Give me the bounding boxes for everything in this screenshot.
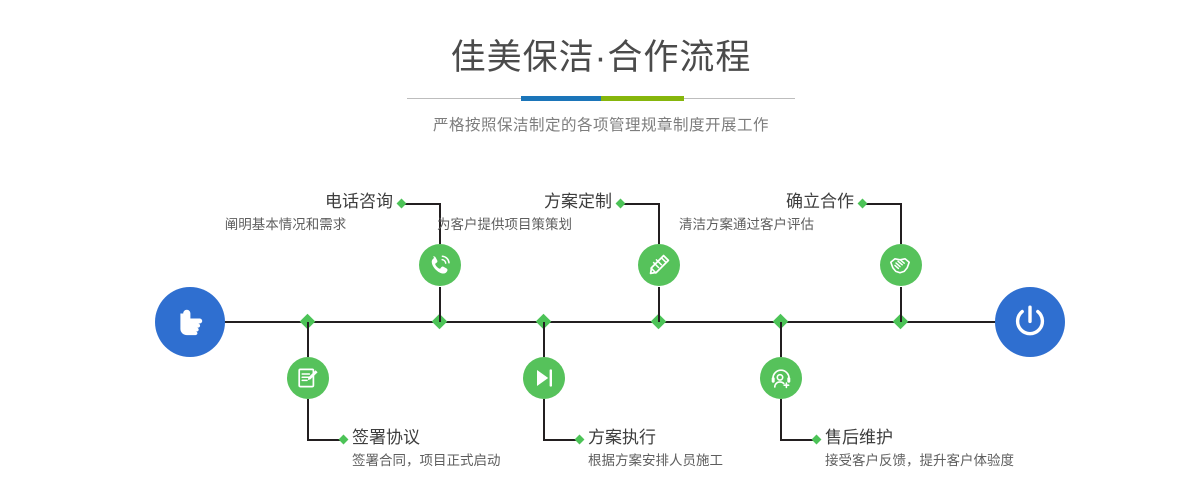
step-title: 方案执行 — [588, 426, 723, 450]
timeline-start-endpoint — [155, 287, 225, 357]
headset-support-icon — [769, 366, 793, 390]
label-marker-plan-execute — [575, 435, 585, 445]
timeline-end-endpoint — [995, 287, 1065, 357]
label-marker-after-sales — [812, 435, 822, 445]
step-title: 电话咨询 — [178, 190, 393, 214]
step-label-plan-execute: 方案执行 根据方案安排人员施工 — [588, 426, 723, 472]
connector-stem-sign-agreement — [307, 399, 309, 440]
step-title: 售后维护 — [825, 426, 1014, 450]
step-subtitle: 根据方案安排人员施工 — [588, 450, 723, 472]
power-icon — [1009, 301, 1051, 343]
phone-ring-icon — [428, 253, 452, 277]
pencil-design-icon — [647, 253, 671, 277]
step-label-after-sales: 售后维护 接受客户反馈，提升客户体验度 — [825, 426, 1014, 472]
connector-up-phone-consult — [439, 287, 441, 322]
step-icon-plan-execute[interactable] — [523, 357, 565, 399]
pointing-hand-icon — [170, 302, 210, 342]
step-icon-phone-consult[interactable] — [419, 244, 461, 286]
step-subtitle: 清洁方案通过客户评估 — [639, 214, 854, 236]
step-title: 方案定制 — [397, 190, 612, 214]
label-marker-establish-coop — [858, 199, 868, 209]
step-title: 签署协议 — [352, 426, 501, 450]
connector-down-sign-agreement — [307, 322, 309, 357]
step-icon-sign-agreement[interactable] — [287, 357, 329, 399]
label-marker-sign-agreement — [339, 435, 349, 445]
document-edit-icon — [296, 366, 320, 390]
connector-up-plan-custom — [658, 287, 660, 322]
connector-down-after-sales — [780, 322, 782, 357]
step-icon-after-sales[interactable] — [760, 357, 802, 399]
step-icon-plan-custom[interactable] — [638, 244, 680, 286]
step-subtitle: 签署合同，项目正式启动 — [352, 450, 501, 472]
step-icon-establish-coop[interactable] — [880, 244, 922, 286]
connector-stem-after-sales — [780, 399, 782, 440]
flow-diagram-page: 佳美保洁·合作流程 严格按照保洁制定的各项管理规章制度开展工作 — [0, 0, 1202, 502]
handshake-icon — [889, 253, 913, 277]
label-marker-plan-custom — [616, 199, 626, 209]
step-title: 确立合作 — [639, 190, 854, 214]
connector-down-plan-execute — [543, 322, 545, 357]
process-timeline: 签署协议 签署合同，项目正式启动 电话咨询 阐明基本情况和需求 — [0, 0, 1202, 502]
step-label-phone-consult: 电话咨询 阐明基本情况和需求 — [178, 190, 393, 236]
connector-left-establish-coop — [865, 203, 902, 205]
connector-up-establish-coop — [900, 287, 902, 322]
connector-stem-plan-execute — [543, 399, 545, 440]
step-label-establish-coop: 确立合作 清洁方案通过客户评估 — [639, 190, 854, 236]
play-skip-icon — [532, 366, 556, 390]
step-subtitle: 接受客户反馈，提升客户体验度 — [825, 450, 1014, 472]
connector-stem-establish-coop — [900, 203, 902, 244]
step-label-plan-custom: 方案定制 为客户提供项目策策划 — [397, 190, 612, 236]
step-subtitle: 为客户提供项目策策划 — [397, 214, 612, 236]
step-subtitle: 阐明基本情况和需求 — [178, 214, 393, 236]
step-label-sign-agreement: 签署协议 签署合同，项目正式启动 — [352, 426, 501, 472]
